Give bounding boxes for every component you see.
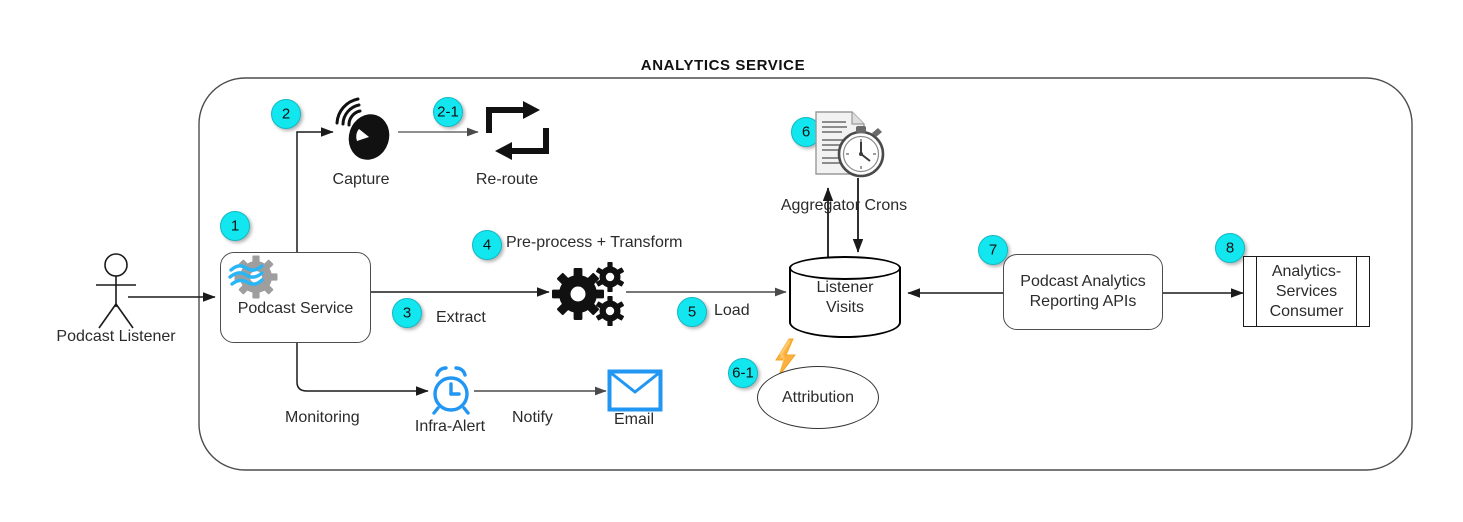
badge-8: 8 [1215, 233, 1245, 263]
infra-alert-label: Infra-Alert [415, 418, 485, 436]
capture-label: Capture [333, 171, 390, 189]
actor-label: Podcast Listener [56, 328, 175, 346]
listener-visits-label: Listener Visits [789, 278, 901, 317]
badge-2: 2 [271, 99, 301, 129]
extract-label: Extract [436, 309, 486, 327]
badge-5: 5 [677, 297, 707, 327]
diagram-canvas: ANALYTICS SERVICE [0, 0, 1463, 522]
envelope-icon [607, 369, 663, 413]
document-stopwatch-icon [812, 108, 890, 184]
alarm-clock-icon [425, 363, 477, 417]
stick-figure-icon [88, 252, 158, 322]
load-label: Load [714, 302, 750, 320]
badge-1: 1 [220, 211, 250, 241]
cylinder-top [789, 256, 901, 280]
aggregator-crons-label: Aggregator Crons [781, 197, 907, 215]
mouse-signal-icon [327, 100, 397, 162]
badge-7: 7 [978, 235, 1008, 265]
reporting-apis-node[interactable]: Podcast Analytics Reporting APIs [1003, 254, 1163, 330]
listener-visits-database[interactable]: Listener Visits [789, 256, 901, 338]
gears-icon [548, 258, 630, 330]
loop-arrows-icon [484, 100, 556, 164]
reporting-apis-label: Podcast Analytics Reporting APIs [1020, 272, 1145, 312]
email-label: Email [614, 411, 654, 429]
badge-6-1: 6-1 [728, 358, 758, 388]
gear-wave-icon [226, 254, 286, 302]
notify-label: Notify [512, 409, 553, 427]
attribution-label: Attribution [782, 389, 854, 407]
transform-label: Pre-process + Transform [506, 234, 683, 252]
badge-4: 4 [472, 230, 502, 260]
badge-3: 3 [392, 298, 422, 328]
monitoring-label: Monitoring [285, 409, 360, 427]
consumer-label: Analytics- Services Consumer [1270, 262, 1344, 322]
attribution-node[interactable]: Attribution [757, 366, 879, 429]
badge-2-1: 2-1 [433, 97, 463, 127]
reroute-label: Re-route [476, 171, 538, 189]
analytics-services-consumer-node[interactable]: Analytics- Services Consumer [1243, 256, 1370, 327]
